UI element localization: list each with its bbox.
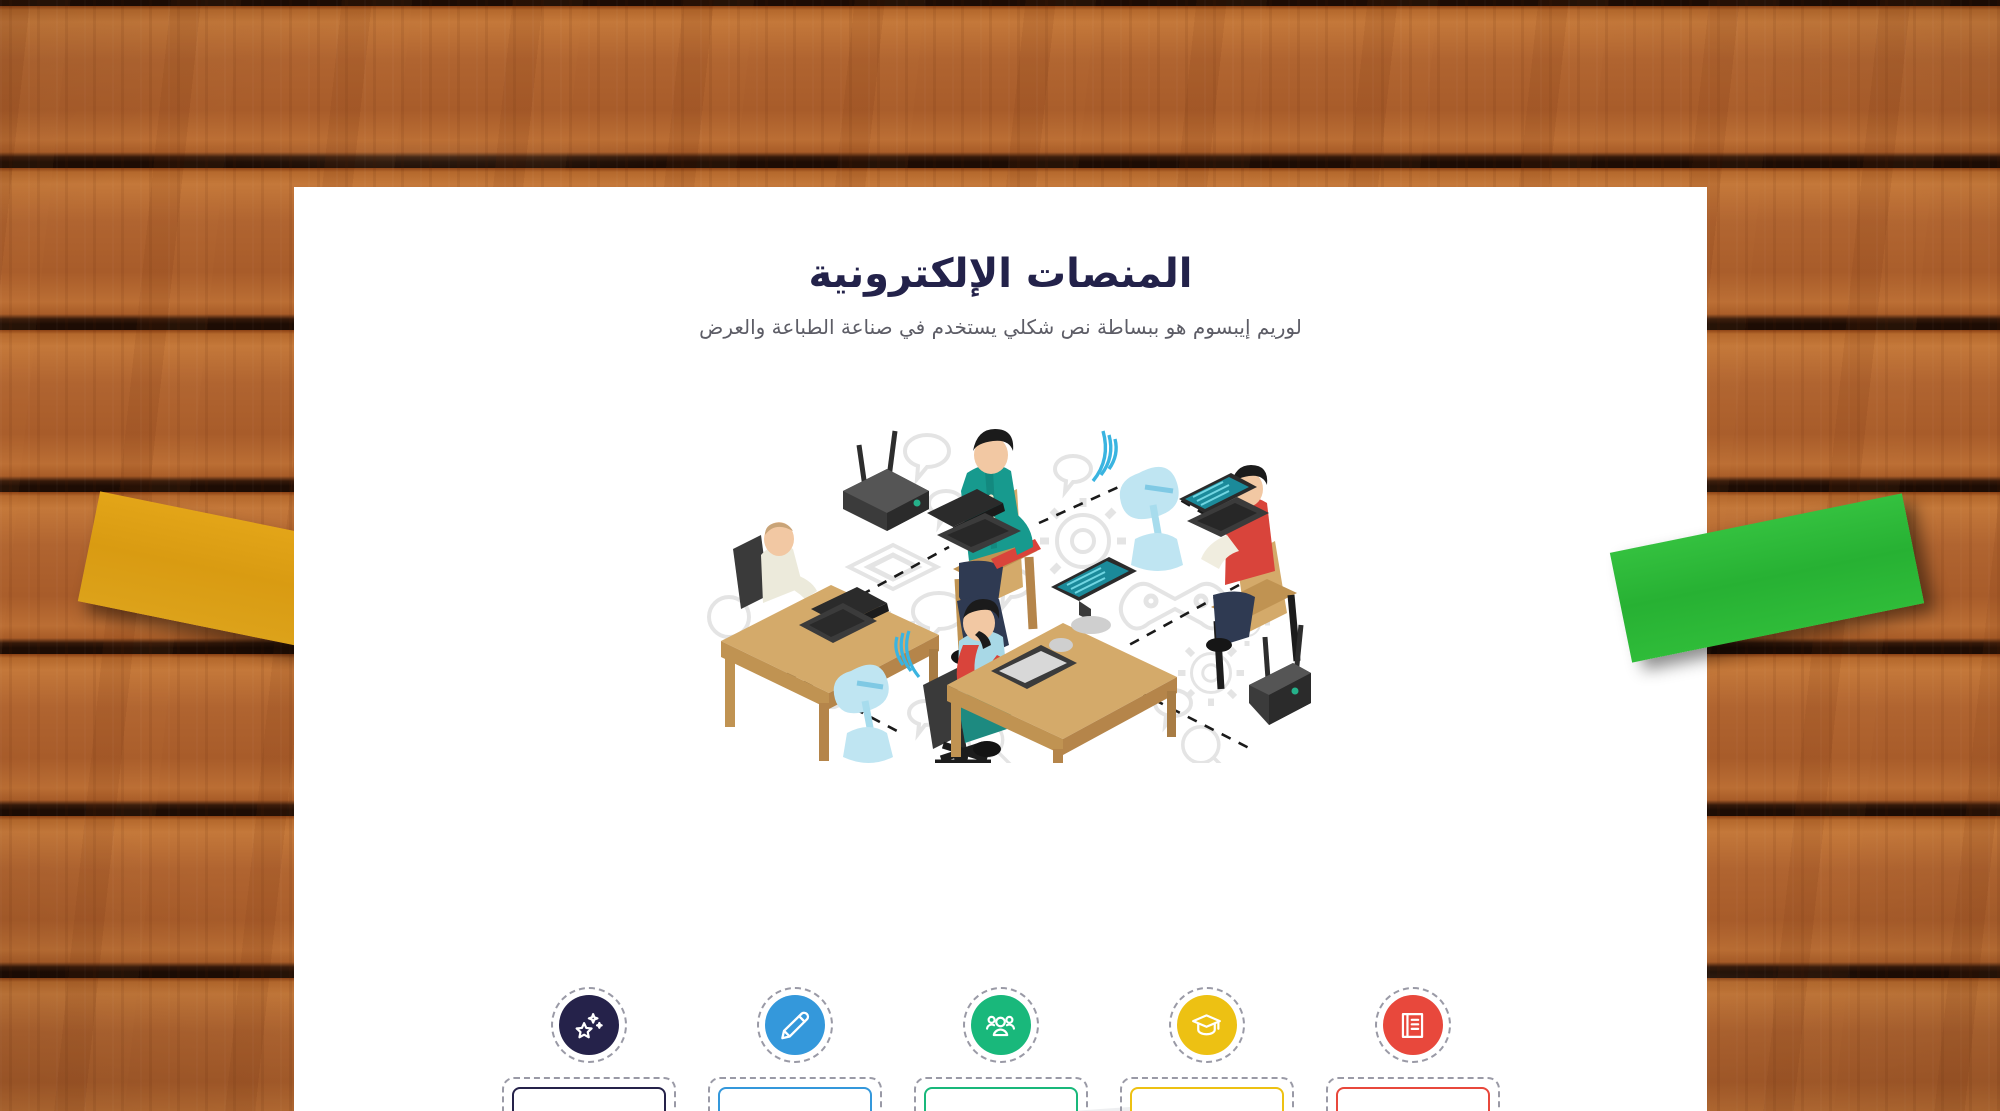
- icon-ring-scientific-exams: [551, 987, 627, 1063]
- router-device-right: [1249, 625, 1311, 725]
- card-body-student-platform: منصة الطلاب: [1336, 1087, 1490, 1111]
- book-icon: [1397, 1010, 1428, 1041]
- icon-disc-faculty-members: [765, 995, 825, 1055]
- illustration-container: [294, 373, 1707, 763]
- platform-card-graduate-studies[interactable]: دراسات عليا رابط الصفحة: [1120, 987, 1294, 1111]
- icon-ring-graduate-studies: [1169, 987, 1245, 1063]
- people-group-icon: [985, 1010, 1016, 1041]
- icon-disc-student-services: [971, 995, 1031, 1055]
- isometric-network-illustration: [691, 373, 1311, 763]
- graduation-cap-icon: [1191, 1010, 1222, 1041]
- icon-ring-faculty-members: [757, 987, 833, 1063]
- workstation-right: [1179, 465, 1297, 689]
- icon-ring-student-services: [963, 987, 1039, 1063]
- platform-card-student-services[interactable]: خدمات طلابية رابط الصفحة: [914, 987, 1088, 1111]
- card-frame-student-platform: منصة الطلاب رابط الصفحة: [1326, 1077, 1500, 1111]
- pencil-icon: [779, 1010, 810, 1041]
- page-title: المنصات الإلكترونية: [294, 249, 1707, 299]
- icon-disc-student-platform: [1383, 995, 1443, 1055]
- card-frame-faculty-members: أعضاء التدريس رابط الصفحة: [708, 1077, 882, 1111]
- card-frame-graduate-studies: دراسات عليا رابط الصفحة: [1120, 1077, 1294, 1111]
- card-body-scientific-exams: اختبارات علمية: [512, 1087, 666, 1111]
- icon-disc-scientific-exams: [559, 995, 619, 1055]
- sparkle-star-icon: [573, 1010, 604, 1041]
- platform-card-scientific-exams[interactable]: اختبارات علمية رابط الصفحة: [502, 987, 676, 1111]
- platform-card-faculty-members[interactable]: أعضاء التدريس رابط الصفحة: [708, 987, 882, 1111]
- card-frame-scientific-exams: اختبارات علمية رابط الصفحة: [502, 1077, 676, 1111]
- card-body-faculty-members: أعضاء التدريس: [718, 1087, 872, 1111]
- card-body-graduate-studies: دراسات عليا: [1130, 1087, 1284, 1111]
- platform-cards-row: اختبارات علمية رابط الصفحة: [294, 987, 1707, 1111]
- icon-ring-student-platform: [1375, 987, 1451, 1063]
- icon-disc-graduate-studies: [1177, 995, 1237, 1055]
- card-frame-student-services: خدمات طلابية رابط الصفحة: [914, 1077, 1088, 1111]
- slide-stage: المنصات الإلكترونية لوريم إيبسوم هو ببسا…: [0, 0, 2000, 1111]
- platform-card-student-platform[interactable]: منصة الطلاب رابط الصفحة: [1326, 987, 1500, 1111]
- page-subtitle: لوريم إيبسوم هو ببساطة نص شكلي يستخدم في…: [294, 315, 1707, 339]
- content-panel: المنصات الإلكترونية لوريم إيبسوم هو ببسا…: [294, 187, 1707, 1111]
- panel-header: المنصات الإلكترونية لوريم إيبسوم هو ببسا…: [294, 187, 1707, 339]
- card-body-student-services: خدمات طلابية: [924, 1087, 1078, 1111]
